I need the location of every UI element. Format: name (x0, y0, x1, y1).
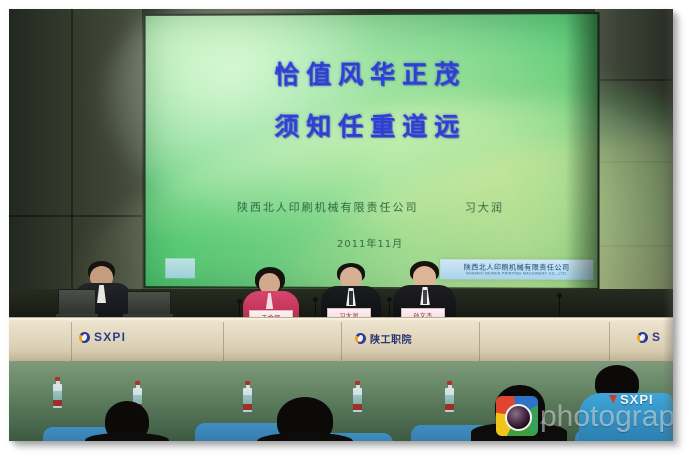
wall-seam (595, 245, 673, 247)
wall-seam (595, 79, 673, 81)
microphone-far-right (559, 297, 560, 319)
photo-edge-shading (663, 9, 673, 441)
sxpi-logo-right: S (637, 330, 661, 344)
laptop-left-screen (58, 289, 96, 317)
photography-watermark: SXPI photography (496, 390, 673, 441)
projection-screen: 恰值风华正茂 须知任重道远 陕西北人印刷机械有限责任公司习大润 2011年11月… (144, 12, 600, 290)
watermark-text: photography (540, 402, 673, 432)
panelist-center-tie (349, 291, 353, 305)
table-panel-seam (479, 322, 480, 362)
sxpi-logo-left: SXPI (79, 330, 126, 344)
audience-shoulders (257, 433, 353, 441)
screen-bezel (144, 12, 600, 290)
sxpi-logo-right-text: S (652, 330, 661, 344)
sxpi-logo-center-text: 陕工职院 (370, 331, 412, 346)
wall-seam (9, 215, 142, 217)
table-panel-seam (71, 322, 72, 362)
sxpi-logo-center: 陕工职院 (355, 331, 412, 346)
audience-shoulders (85, 433, 169, 441)
sxpi-mark-icon (355, 333, 366, 344)
table-panel-seam (341, 322, 342, 362)
wall-right-panel (595, 9, 673, 327)
presenter-operator (61, 261, 171, 323)
sxpi-mark-icon (637, 332, 648, 343)
panelist-right-tie (423, 290, 427, 304)
table-panel-seam (223, 322, 224, 362)
sxpi-mark-icon (79, 332, 90, 343)
wall-seam (595, 161, 673, 163)
sxpi-logo-left-text: SXPI (94, 330, 126, 344)
table-panel-seam (609, 322, 610, 362)
conference-photograph: 恰值风华正茂 须知任重道远 陕西北人印刷机械有限责任公司习大润 2011年11月… (9, 9, 673, 441)
camera-lens-icon (496, 396, 538, 436)
head-table: SXPI 陕工职院 S (9, 317, 673, 362)
photo-frame: 恰值风华正茂 须知任重道远 陕西北人印刷机械有限责任公司习大润 2011年11月… (0, 0, 692, 458)
